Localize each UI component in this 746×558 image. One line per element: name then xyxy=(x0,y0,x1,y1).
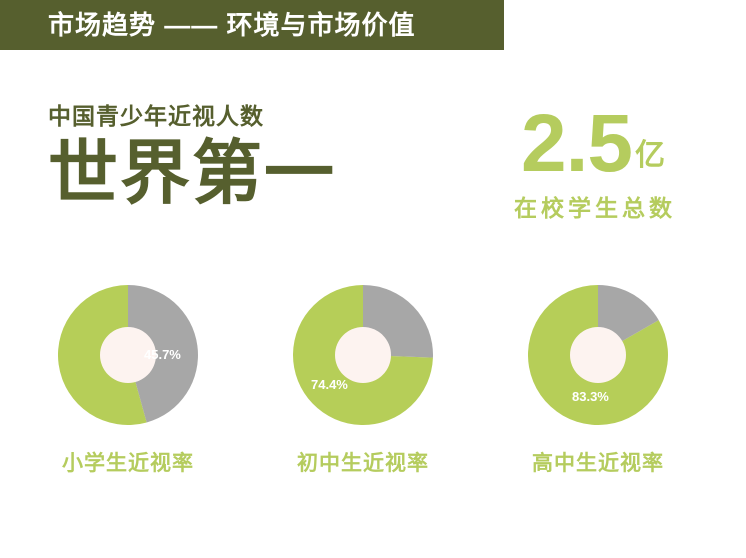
donut-value-label: 83.3% xyxy=(572,389,609,404)
donut-value-label: 45.7% xyxy=(144,347,181,362)
donut-chart-label: 小学生近视率 xyxy=(28,453,228,474)
donut-charts-row: 45.7%小学生近视率74.4%初中生近视率83.3%高中生近视率 xyxy=(0,285,746,485)
donut-chart-3: 83.3%高中生近视率 xyxy=(498,285,698,474)
donut-chart-label: 初中生近视率 xyxy=(263,453,463,474)
headline-subtitle: 中国青少年近视人数 xyxy=(48,104,336,129)
donut-graphic: 45.7% xyxy=(58,285,198,425)
donut-hole xyxy=(570,327,626,383)
infographic-canvas: 市场趋势 —— 环境与市场价值 中国青少年近视人数 世界第一 2.5 亿 在校学… xyxy=(0,0,746,558)
donut-graphic: 74.4% xyxy=(293,285,433,425)
donut-chart-2: 74.4%初中生近视率 xyxy=(263,285,463,474)
stat-figure: 2.5 亿 xyxy=(478,106,708,181)
header-title: 市场趋势 —— 环境与市场价值 xyxy=(48,12,415,38)
donut-graphic: 83.3% xyxy=(528,285,668,425)
stat-unit: 亿 xyxy=(632,141,665,181)
stat-block: 2.5 亿 在校学生总数 xyxy=(478,106,708,223)
donut-chart-label: 高中生近视率 xyxy=(498,453,698,474)
headline-block: 中国青少年近视人数 世界第一 xyxy=(48,104,336,211)
header-banner: 市场趋势 —— 环境与市场价值 xyxy=(0,0,504,50)
stat-caption: 在校学生总数 xyxy=(478,189,708,223)
donut-value-label: 74.4% xyxy=(311,377,348,392)
stat-number: 2.5 xyxy=(521,106,632,181)
donut-hole xyxy=(335,327,391,383)
donut-chart-1: 45.7%小学生近视率 xyxy=(28,285,228,474)
headline-title: 世界第一 xyxy=(48,137,336,211)
